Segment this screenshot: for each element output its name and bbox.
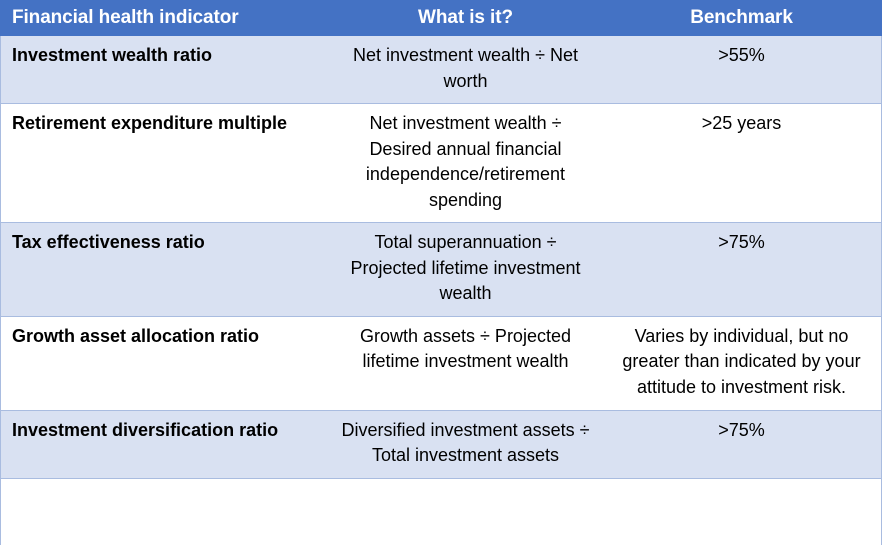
table-row: Tax effectiveness ratio Total superannua… — [0, 223, 882, 317]
cell-benchmark: >55% — [601, 36, 882, 104]
cell-benchmark: >75% — [601, 410, 882, 478]
cell-what-is-it: Total superannuation ÷ Projected lifetim… — [330, 223, 601, 317]
table-row: Investment diversification ratio Diversi… — [0, 410, 882, 478]
cell-indicator: Tax effectiveness ratio — [0, 223, 330, 317]
cell-indicator: Growth asset allocation ratio — [0, 316, 330, 410]
cell-indicator: Investment diversification ratio — [0, 410, 330, 478]
cell-benchmark: >75% — [601, 223, 882, 317]
column-header-indicator: Financial health indicator — [0, 0, 330, 36]
cell-benchmark: Varies by individual, but no greater tha… — [601, 316, 882, 410]
cell-indicator: Retirement expenditure multiple — [0, 104, 330, 223]
cell-indicator: Investment wealth ratio — [0, 36, 330, 104]
table-row: Retirement expenditure multiple Net inve… — [0, 104, 882, 223]
table-header-row: Financial health indicator What is it? B… — [0, 0, 882, 36]
table-row: Investment wealth ratio Net investment w… — [0, 36, 882, 104]
cell-benchmark: >25 years — [601, 104, 882, 223]
cell-what-is-it: Net investment wealth ÷ Desired annual f… — [330, 104, 601, 223]
column-header-benchmark: Benchmark — [601, 0, 882, 36]
cell-what-is-it: Net investment wealth ÷ Net worth — [330, 36, 601, 104]
cell-what-is-it: Diversified investment assets ÷ Total in… — [330, 410, 601, 478]
table-body: Investment wealth ratio Net investment w… — [0, 36, 882, 478]
cell-what-is-it: Growth assets ÷ Projected lifetime inves… — [330, 316, 601, 410]
table-header: Financial health indicator What is it? B… — [0, 0, 882, 36]
financial-health-table: Financial health indicator What is it? B… — [0, 0, 882, 479]
table-row: Growth asset allocation ratio Growth ass… — [0, 316, 882, 410]
table-left-border — [0, 36, 1, 545]
column-header-what-is-it: What is it? — [330, 0, 601, 36]
financial-health-table-container: Financial health indicator What is it? B… — [0, 0, 882, 545]
